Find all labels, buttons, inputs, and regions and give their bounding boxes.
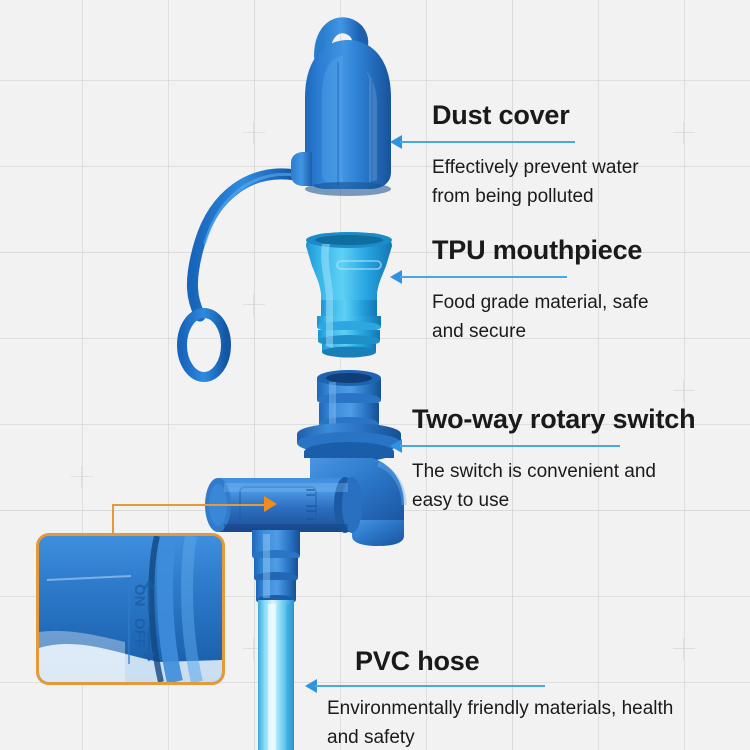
- callout-tpu-mouthpiece-body: Food grade material, safe and secure: [432, 288, 740, 347]
- switch-detail-zoom[interactable]: ON OFF: [36, 533, 225, 685]
- callout-pvc-hose: PVC hose Environmentally friendly materi…: [305, 648, 750, 750]
- callout-pvc-hose-arrow: [305, 679, 750, 693]
- body-line: Effectively prevent water: [432, 153, 740, 182]
- infographic-canvas: ON OFF Dust cover Effectively prevent wa…: [0, 0, 750, 750]
- body-line: Food grade material, safe: [432, 288, 740, 317]
- callout-pvc-hose-body: Environmentally friendly materials, heal…: [327, 694, 750, 750]
- inset-leader-arrowhead: [264, 496, 277, 512]
- body-line: and secure: [432, 317, 740, 346]
- callout-dust-cover-heading: Dust cover: [432, 102, 740, 129]
- callout-two-way-rotary-switch-heading: Two-way rotary switch: [412, 406, 750, 433]
- callout-dust-cover: Dust cover Effectively prevent water fro…: [390, 102, 740, 212]
- callout-two-way-rotary-switch-body: The switch is convenient and easy to use: [412, 457, 750, 516]
- arrow-line: [315, 685, 545, 687]
- switch-detail-image: ON OFF: [39, 536, 222, 682]
- callout-two-way-rotary-switch: Two-way rotary switch The switch is conv…: [390, 406, 750, 516]
- body-line: Environmentally friendly materials, heal…: [327, 694, 750, 723]
- inset-leader-horizontal: [112, 504, 272, 506]
- callout-dust-cover-body: Effectively prevent water from being pol…: [432, 153, 740, 212]
- callout-two-way-rotary-switch-arrow: [390, 439, 750, 453]
- callout-tpu-mouthpiece: TPU mouthpiece Food grade material, safe…: [390, 237, 740, 347]
- arrow-line: [400, 141, 575, 143]
- body-line: easy to use: [412, 486, 750, 515]
- svg-text:OFF: OFF: [131, 618, 148, 648]
- callout-tpu-mouthpiece-arrow: [390, 270, 740, 284]
- arrow-line: [400, 276, 567, 278]
- callout-dust-cover-arrow: [390, 135, 740, 149]
- arrow-line: [400, 445, 620, 447]
- body-line: The switch is convenient and: [412, 457, 750, 486]
- body-line: from being polluted: [432, 182, 740, 211]
- callout-pvc-hose-heading: PVC hose: [355, 648, 750, 675]
- callout-tpu-mouthpiece-heading: TPU mouthpiece: [432, 237, 740, 264]
- body-line: and safety: [327, 723, 750, 750]
